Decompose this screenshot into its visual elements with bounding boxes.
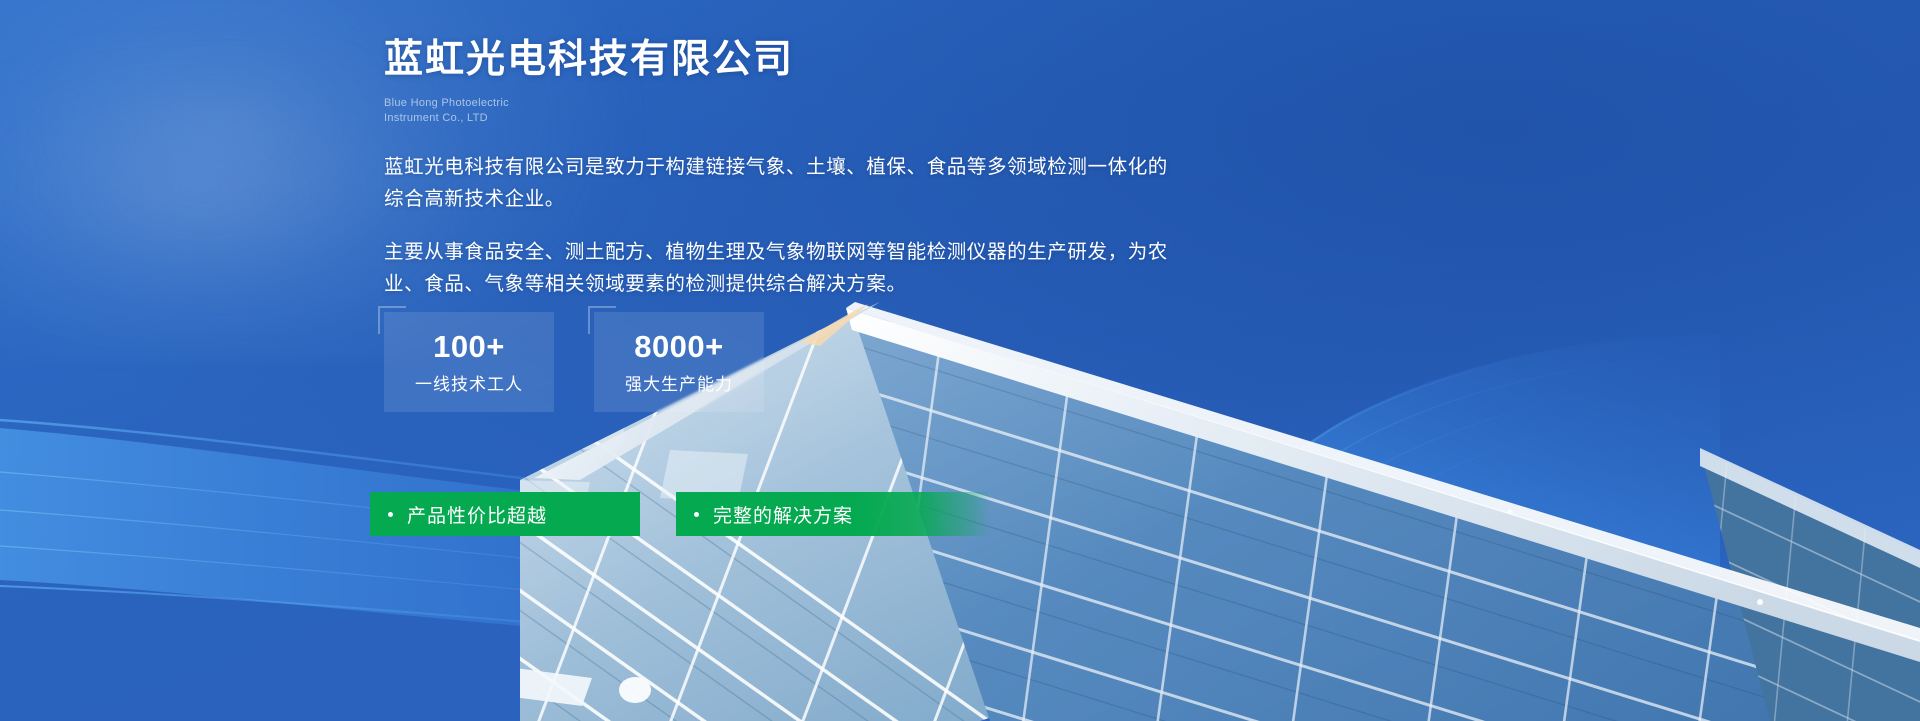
wave-arc-right-decoration — [1020, 330, 1720, 630]
stat-card-capacity: 8000+ 强大生产能力 — [594, 312, 764, 412]
feature-tags-group: 产品性价比超越 完整的解决方案 — [370, 492, 991, 536]
feature-tag-solution: 完整的解决方案 — [676, 492, 991, 536]
company-name-english: Blue Hong Photoelectric Instrument Co., … — [384, 96, 1204, 126]
stat-number-capacity: 8000+ — [634, 331, 724, 362]
stat-label-capacity: 强大生产能力 — [625, 376, 733, 393]
company-name-english-line-1: Blue Hong Photoelectric — [384, 96, 1204, 111]
feature-tag-value: 产品性价比超越 — [370, 492, 640, 536]
wave-ribbon-left-decoration — [0, 380, 1180, 721]
stat-card-workers: 100+ 一线技术工人 — [384, 312, 554, 412]
bullet-dot-icon — [694, 512, 699, 517]
feature-tag-solution-label: 完整的解决方案 — [713, 501, 853, 528]
statistics-group: 100+ 一线技术工人 8000+ 强大生产能力 — [384, 312, 764, 412]
bullet-dot-icon — [388, 512, 393, 517]
company-name-heading: 蓝虹光电科技有限公司 — [384, 36, 1204, 84]
company-name-english-line-2: Instrument Co., LTD — [384, 111, 1204, 126]
stat-number-workers: 100+ — [433, 331, 505, 362]
stat-label-workers: 一线技术工人 — [415, 376, 523, 393]
company-hero-banner: 蓝虹光电科技有限公司 Blue Hong Photoelectric Instr… — [0, 0, 1920, 721]
hero-text-block: 蓝虹光电科技有限公司 Blue Hong Photoelectric Instr… — [384, 36, 1204, 300]
feature-tag-value-label: 产品性价比超越 — [407, 501, 547, 528]
intro-paragraph-1: 蓝虹光电科技有限公司是致力于构建链接气象、土壤、植保、食品等多领域检测一体化的综… — [384, 152, 1184, 215]
intro-paragraph-2: 主要从事食品安全、测土配方、植物生理及气象物联网等智能检测仪器的生产研发，为农业… — [384, 237, 1184, 300]
